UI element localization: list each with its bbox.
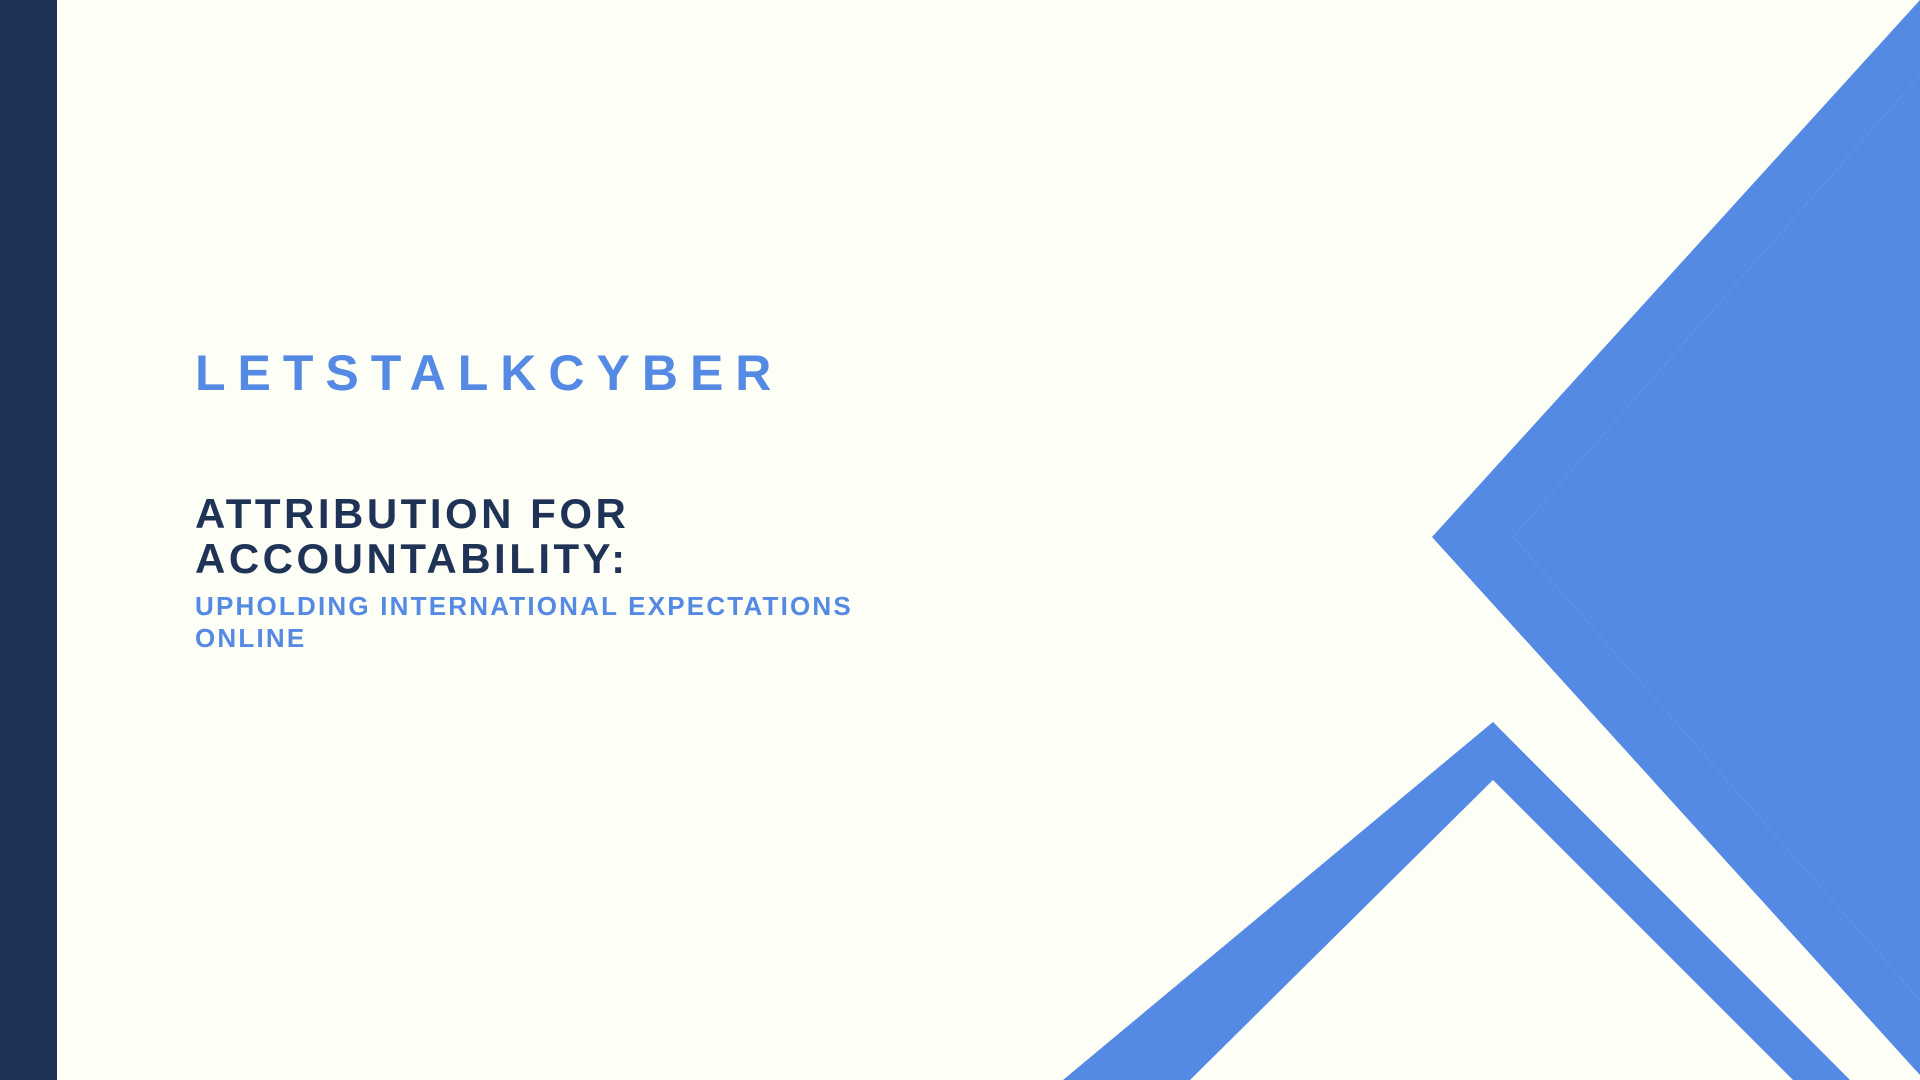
slide-content: LETSTALKCYBER ATTRIBUTION FOR ACCOUNTABI… xyxy=(195,0,1195,1080)
title-line-2: ACCOUNTABILITY: xyxy=(195,537,1175,582)
title-line-1: ATTRIBUTION FOR xyxy=(195,492,1175,537)
page-subtitle: UPHOLDING INTERNATIONAL EXPECTATIONS ONL… xyxy=(195,590,1175,655)
left-accent-bar xyxy=(0,0,57,1080)
subtitle-line-2: ONLINE xyxy=(195,622,1175,655)
filled-chevron-right xyxy=(1513,75,1920,1000)
page-title: ATTRIBUTION FOR ACCOUNTABILITY: UPHOLDIN… xyxy=(195,492,1175,655)
title-slide: LETSTALKCYBER ATTRIBUTION FOR ACCOUNTABI… xyxy=(0,0,1920,1080)
brand-logo: LETSTALKCYBER xyxy=(195,348,783,398)
subtitle-line-1: UPHOLDING INTERNATIONAL EXPECTATIONS xyxy=(195,590,1175,623)
